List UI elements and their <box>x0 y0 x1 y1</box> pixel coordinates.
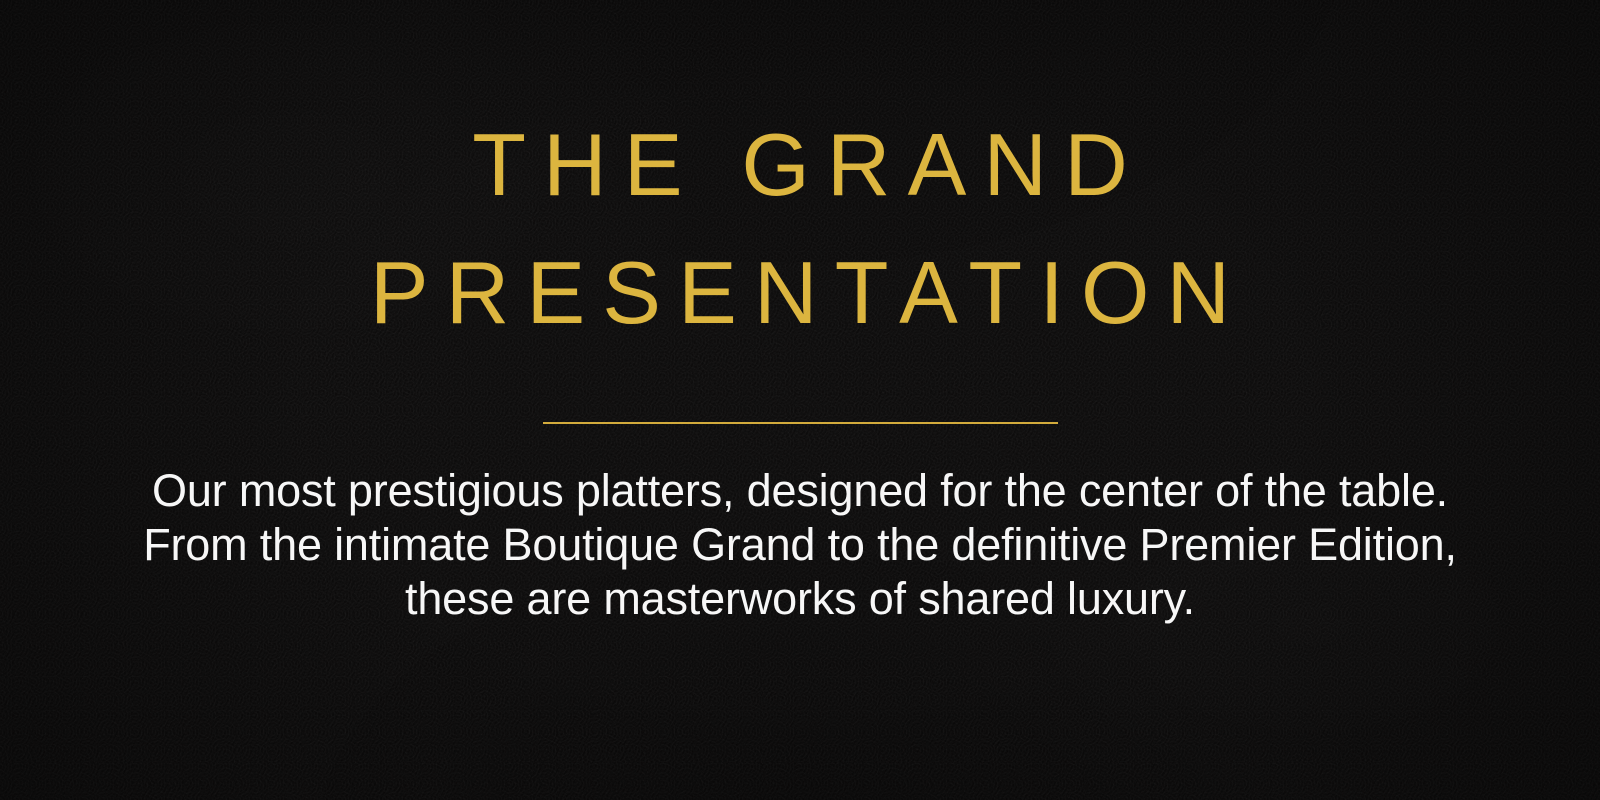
hero-description-line-1: Our most prestigious platters, designed … <box>100 464 1500 518</box>
hero-description: Our most prestigious platters, designed … <box>100 464 1500 626</box>
gold-divider-rule <box>543 422 1058 424</box>
hero-description-line-3: these are masterworks of shared luxury. <box>100 572 1500 626</box>
hero-description-line-2: From the intimate Boutique Grand to the … <box>100 518 1500 572</box>
grand-presentation-hero: THE GRAND PRESENTATION Our most prestigi… <box>0 0 1600 800</box>
hero-title-line-1: THE GRAND <box>0 96 1600 234</box>
hero-content: THE GRAND PRESENTATION Our most prestigi… <box>0 0 1600 800</box>
hero-title-line-2: PRESENTATION <box>0 224 1600 362</box>
